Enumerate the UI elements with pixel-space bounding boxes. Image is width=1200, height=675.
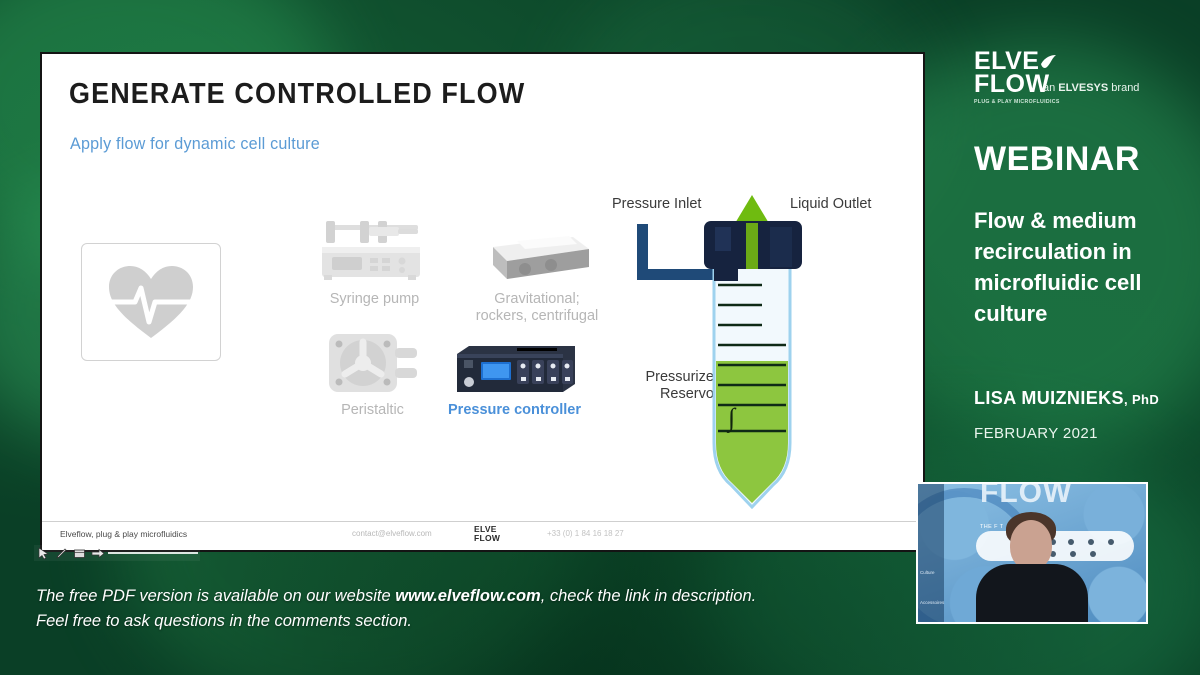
pip-logo-dot: [1070, 551, 1076, 557]
footer-tagline: Elveflow, plug & play microfluidics: [60, 529, 187, 539]
toolbar-rule: [108, 552, 198, 554]
slide-icon[interactable]: [72, 546, 87, 560]
presentation-slide[interactable]: GENERATE CONTROLLED FLOW Apply flow for …: [40, 52, 925, 552]
footer-logo-line2: FLOW: [474, 534, 500, 543]
device-label: Pressure controller: [402, 402, 627, 419]
pip-overlay-logo: FLOW: [980, 482, 1072, 510]
caption-line1-pre: The free PDF version is available on our…: [36, 587, 395, 605]
speaker-name-text: LISA MUIZNIEKS: [974, 388, 1124, 408]
pip-left-label: Culture: [920, 570, 935, 575]
syringe-pump-icon: [282, 211, 467, 287]
footer-logo: ELVE FLOW: [474, 525, 500, 542]
speaker-degree: , PhD: [1124, 392, 1159, 407]
webinar-title: Flow & medium recirculation in microflui…: [974, 205, 1174, 329]
slide-subtitle: Apply flow for dynamic cell culture: [70, 134, 320, 154]
speaker-name: LISA MUIZNIEKS, PhD: [974, 388, 1159, 409]
caption-line1-post: , check the link in description.: [541, 587, 757, 605]
webinar-kicker: WEBINAR: [974, 140, 1140, 179]
caption-website-link[interactable]: www.elveflow.com: [395, 587, 540, 605]
next-arrow-icon[interactable]: [90, 546, 105, 560]
presentation-toolbar[interactable]: [34, 545, 200, 561]
brand-suffix: brand: [1108, 82, 1139, 94]
presenter-head: [1010, 520, 1052, 570]
brand-line: an ELVESYS brand: [1043, 82, 1139, 94]
heart-pulse-card: [81, 243, 221, 361]
pip-logo-dot: [1068, 539, 1074, 545]
caption-text: The free PDF version is available on our…: [36, 584, 776, 634]
caption-line-1: The free PDF version is available on our…: [36, 584, 776, 609]
device-syringe-pump[interactable]: Syringe pump: [282, 211, 467, 308]
brand-name: ELVESYS: [1058, 82, 1108, 94]
pip-logo-dot: [1090, 551, 1096, 557]
brand-prefix: an: [1043, 82, 1058, 94]
pip-left-label: Accessoires: [920, 600, 944, 605]
slide-title: GENERATE CONTROLLED FLOW: [69, 78, 525, 111]
device-label-line1: Gravitational;: [494, 291, 579, 307]
pointer-icon[interactable]: [36, 546, 51, 560]
pip-small-text: THE F T: [980, 524, 1003, 530]
pip-logo-dot: [1088, 539, 1094, 545]
heart-pulse-icon: [105, 262, 197, 342]
pen-icon[interactable]: [54, 546, 69, 560]
pressure-controller-icon: [402, 322, 627, 398]
logo-tagline: PLUG & PLAY MICROFLUIDICS: [974, 99, 1060, 105]
footer-email: contact@elveflow.com: [352, 529, 432, 538]
falcon-tube: ∫: [712, 259, 792, 511]
logo-droplet-icon: [1039, 54, 1057, 70]
webcam-pip[interactable]: FLOW THE F T Culture Accessoires: [916, 482, 1148, 624]
elveflow-logo: ELVE FLOW PLUG & PLAY MICROFLUIDICS: [974, 50, 1060, 105]
pressurized-reservoir-diagram: Pressure Inlet Liquid Outlet Pressurized…: [602, 189, 902, 519]
webinar-date: FEBRUARY 2021: [974, 425, 1098, 442]
device-pressure-controller[interactable]: Pressure controller: [402, 322, 627, 419]
device-label: Syringe pump: [282, 291, 467, 308]
presenter-body: [976, 564, 1088, 624]
footer-phone: +33 (0) 1 84 16 18 27: [547, 529, 624, 538]
caption-line-2: Feel free to ask questions in the commen…: [36, 609, 776, 634]
pip-logo-dot: [1108, 539, 1114, 545]
